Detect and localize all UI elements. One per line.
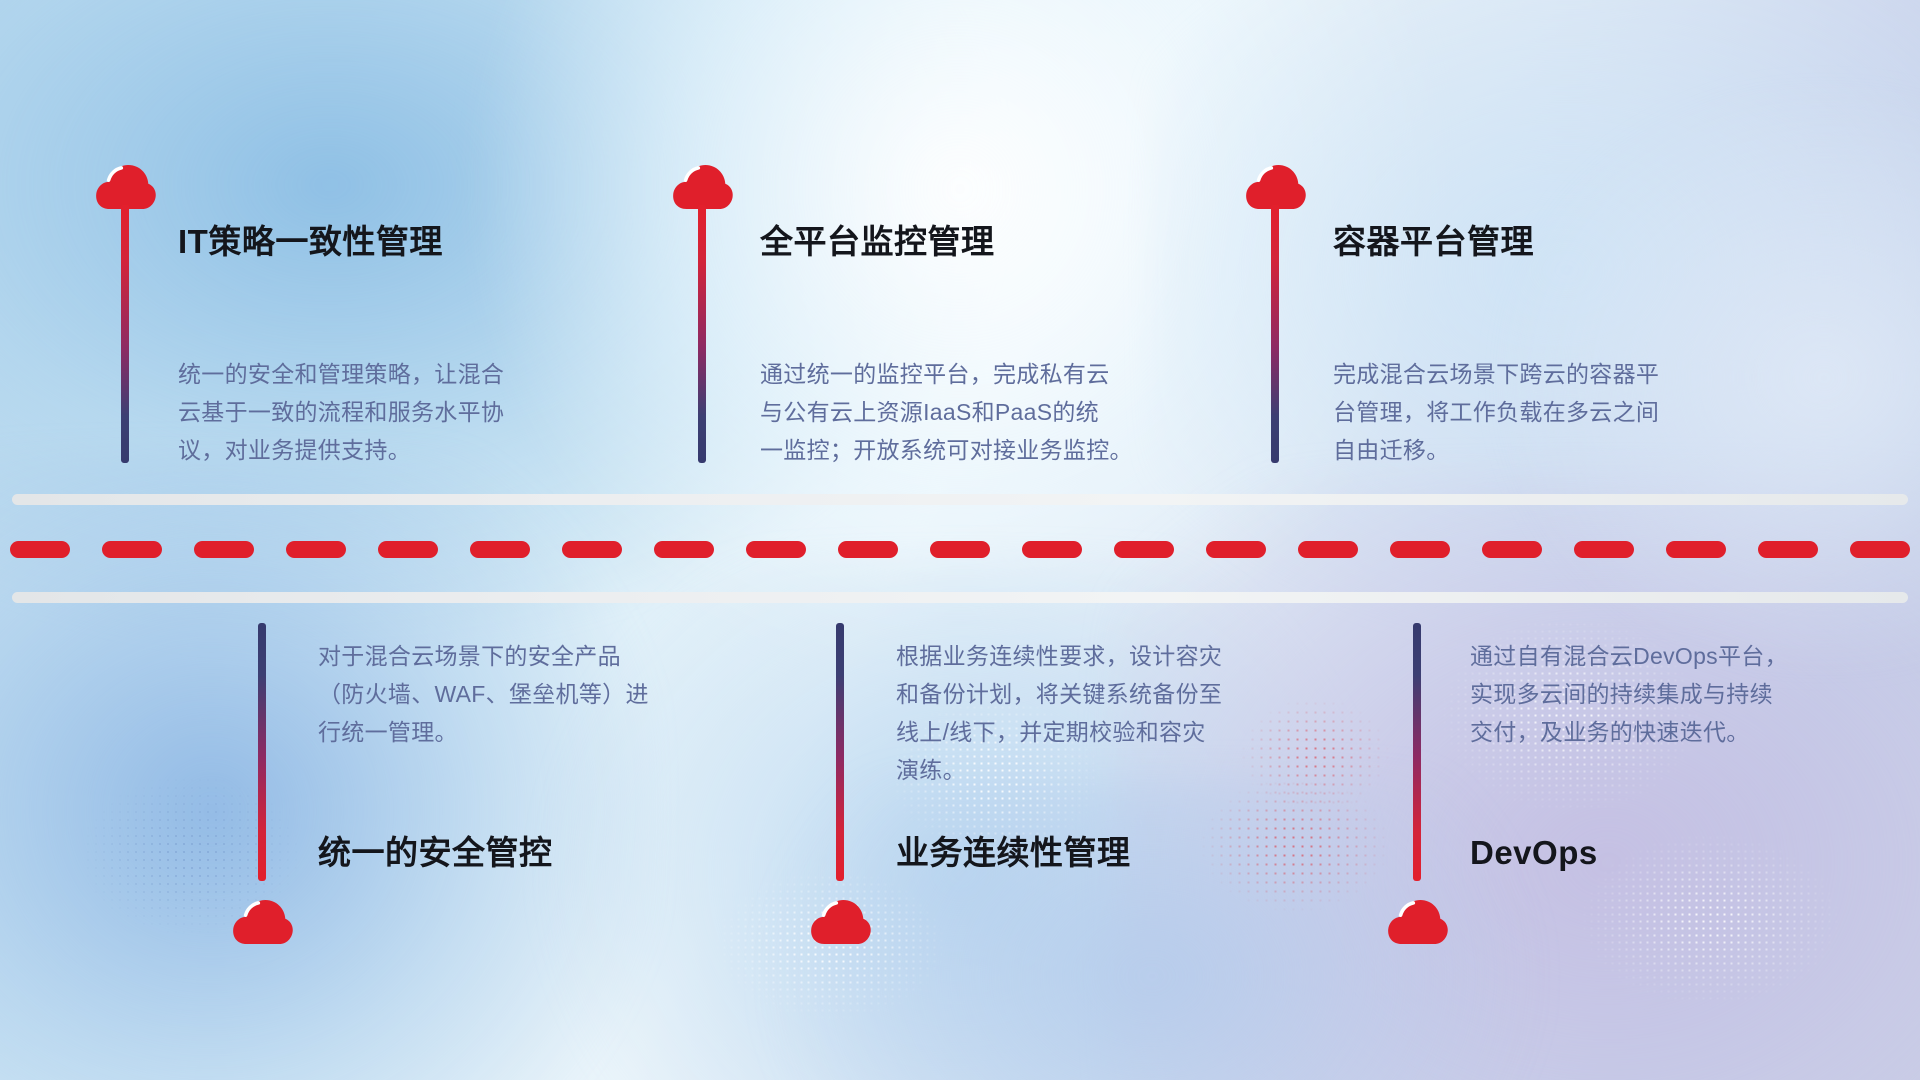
body-line: 议，对业务提供支持。: [178, 431, 504, 469]
dash-segment: [1114, 541, 1174, 558]
dash-segment: [1574, 541, 1634, 558]
body-line: 演练。: [896, 751, 1222, 789]
connector-stem: [258, 623, 266, 881]
cloud-icon: [810, 895, 872, 945]
cloud-icon: [95, 160, 157, 210]
body-line: 与公有云上资源IaaS和PaaS的统: [760, 393, 1133, 431]
body-line: 通过统一的监控平台，完成私有云: [760, 355, 1133, 393]
body-line: 云基于一致的流程和服务水平协: [178, 393, 504, 431]
body-line: 线上/线下，并定期校验和容灾: [896, 713, 1222, 751]
dash-segment: [470, 541, 530, 558]
column-body: 统一的安全和管理策略，让混合 云基于一致的流程和服务水平协 议，对业务提供支持。: [178, 355, 504, 469]
dash-segment: [1758, 541, 1818, 558]
column-heading: 统一的安全管控: [318, 836, 553, 869]
body-line: （防火墙、WAF、堡垒机等）进: [318, 675, 649, 713]
body-line: 对于混合云场景下的安全产品: [318, 637, 649, 675]
dash-segment: [1022, 541, 1082, 558]
dot-texture-6: [1560, 820, 1860, 1020]
column-body: 根据业务连续性要求，设计容灾 和备份计划，将关键系统备份至 线上/线下，并定期校…: [896, 637, 1222, 789]
body-line: 通过自有混合云DevOps平台，: [1470, 637, 1788, 675]
dash-segment: [746, 541, 806, 558]
column-body: 对于混合云场景下的安全产品 （防火墙、WAF、堡垒机等）进 行统一管理。: [318, 637, 649, 751]
body-line: 自由迁移。: [1333, 431, 1659, 469]
column-heading: 全平台监控管理: [760, 225, 995, 258]
connector-stem: [698, 205, 706, 463]
column-body: 通过统一的监控平台，完成私有云 与公有云上资源IaaS和PaaS的统 一监控；开…: [760, 355, 1133, 469]
dash-segment: [1206, 541, 1266, 558]
dashed-red-line: [10, 541, 1920, 558]
connector-stem: [1271, 205, 1279, 463]
cloud-icon: [672, 160, 734, 210]
dash-segment: [1298, 541, 1358, 558]
dash-segment: [10, 541, 70, 558]
cloud-icon: [1387, 895, 1449, 945]
dash-segment: [1482, 541, 1542, 558]
column-heading: IT策略一致性管理: [178, 225, 443, 258]
dot-texture-3: [1230, 690, 1400, 820]
body-line: 行统一管理。: [318, 713, 649, 751]
body-line: 台管理，将工作负载在多云之间: [1333, 393, 1659, 431]
body-line: 交付，及业务的快速迭代。: [1470, 713, 1788, 751]
dash-segment: [930, 541, 990, 558]
column-heading: 业务连续性管理: [896, 836, 1131, 869]
column-body: 完成混合云场景下跨云的容器平 台管理，将工作负载在多云之间 自由迁移。: [1333, 355, 1659, 469]
dash-segment: [194, 541, 254, 558]
dash-segment: [562, 541, 622, 558]
dash-segment: [286, 541, 346, 558]
body-line: 和备份计划，将关键系统备份至: [896, 675, 1222, 713]
body-line: 根据业务连续性要求，设计容灾: [896, 637, 1222, 675]
body-line: 统一的安全和管理策略，让混合: [178, 355, 504, 393]
dash-segment: [1850, 541, 1910, 558]
infographic-canvas: IT策略一致性管理 统一的安全和管理策略，让混合 云基于一致的流程和服务水平协 …: [0, 0, 1920, 1080]
dash-segment: [1666, 541, 1726, 558]
connector-stem: [121, 205, 129, 463]
connector-stem: [1413, 623, 1421, 881]
body-line: 一监控；开放系统可对接业务监控。: [760, 431, 1133, 469]
column-body: 通过自有混合云DevOps平台， 实现多云间的持续集成与持续 交付，及业务的快速…: [1470, 637, 1788, 751]
column-heading: DevOps: [1470, 836, 1598, 869]
dash-segment: [1390, 541, 1450, 558]
body-line: 实现多云间的持续集成与持续: [1470, 675, 1788, 713]
dot-texture-4: [700, 860, 960, 1030]
divider-rail-bottom: [12, 592, 1908, 603]
cloud-icon: [232, 895, 294, 945]
body-line: 完成混合云场景下跨云的容器平: [1333, 355, 1659, 393]
column-heading: 容器平台管理: [1333, 225, 1534, 258]
connector-stem: [836, 623, 844, 881]
cloud-icon: [1245, 160, 1307, 210]
dash-segment: [654, 541, 714, 558]
dash-segment: [838, 541, 898, 558]
divider-rail-top: [12, 494, 1908, 505]
dash-segment: [378, 541, 438, 558]
dash-segment: [102, 541, 162, 558]
